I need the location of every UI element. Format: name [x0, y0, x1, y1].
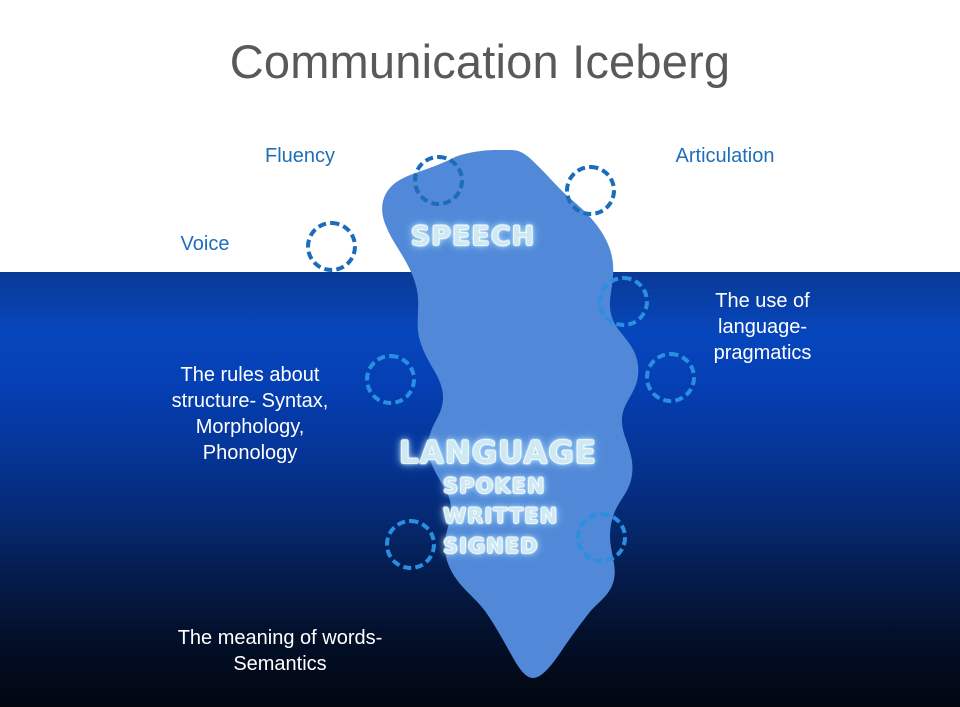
communication-iceberg-slide: Communication Iceberg Fluency Voice Arti… — [0, 0, 960, 707]
dashed-circle-voice — [306, 221, 357, 272]
label-pragmatics: The use of language-pragmatics — [700, 288, 825, 366]
label-structure: The rules about structure- Syntax, Morph… — [150, 362, 350, 466]
dashed-circle-structure — [365, 354, 416, 405]
iceberg-base-label: LANGUAGE — [398, 434, 598, 472]
iceberg-modality-written: WRITTEN — [443, 503, 603, 530]
dashed-circle-articulation — [565, 165, 616, 216]
label-semantics: The meaning of words- Semantics — [175, 625, 385, 677]
iceberg-tip-label: SPEECH — [378, 221, 568, 253]
dashed-circle-semantics — [385, 519, 436, 570]
dashed-circle-fluency — [413, 155, 464, 206]
dashed-circle-pragmatics-upper — [598, 276, 649, 327]
iceberg-modality-signed: SIGNED — [443, 533, 603, 560]
iceberg-modality-spoken: SPOKEN — [443, 473, 603, 500]
label-articulation: Articulation — [635, 143, 815, 169]
label-fluency: Fluency — [215, 143, 385, 169]
label-voice: Voice — [130, 231, 280, 257]
dashed-circle-pragmatics-lower — [645, 352, 696, 403]
page-title: Communication Iceberg — [0, 32, 960, 92]
